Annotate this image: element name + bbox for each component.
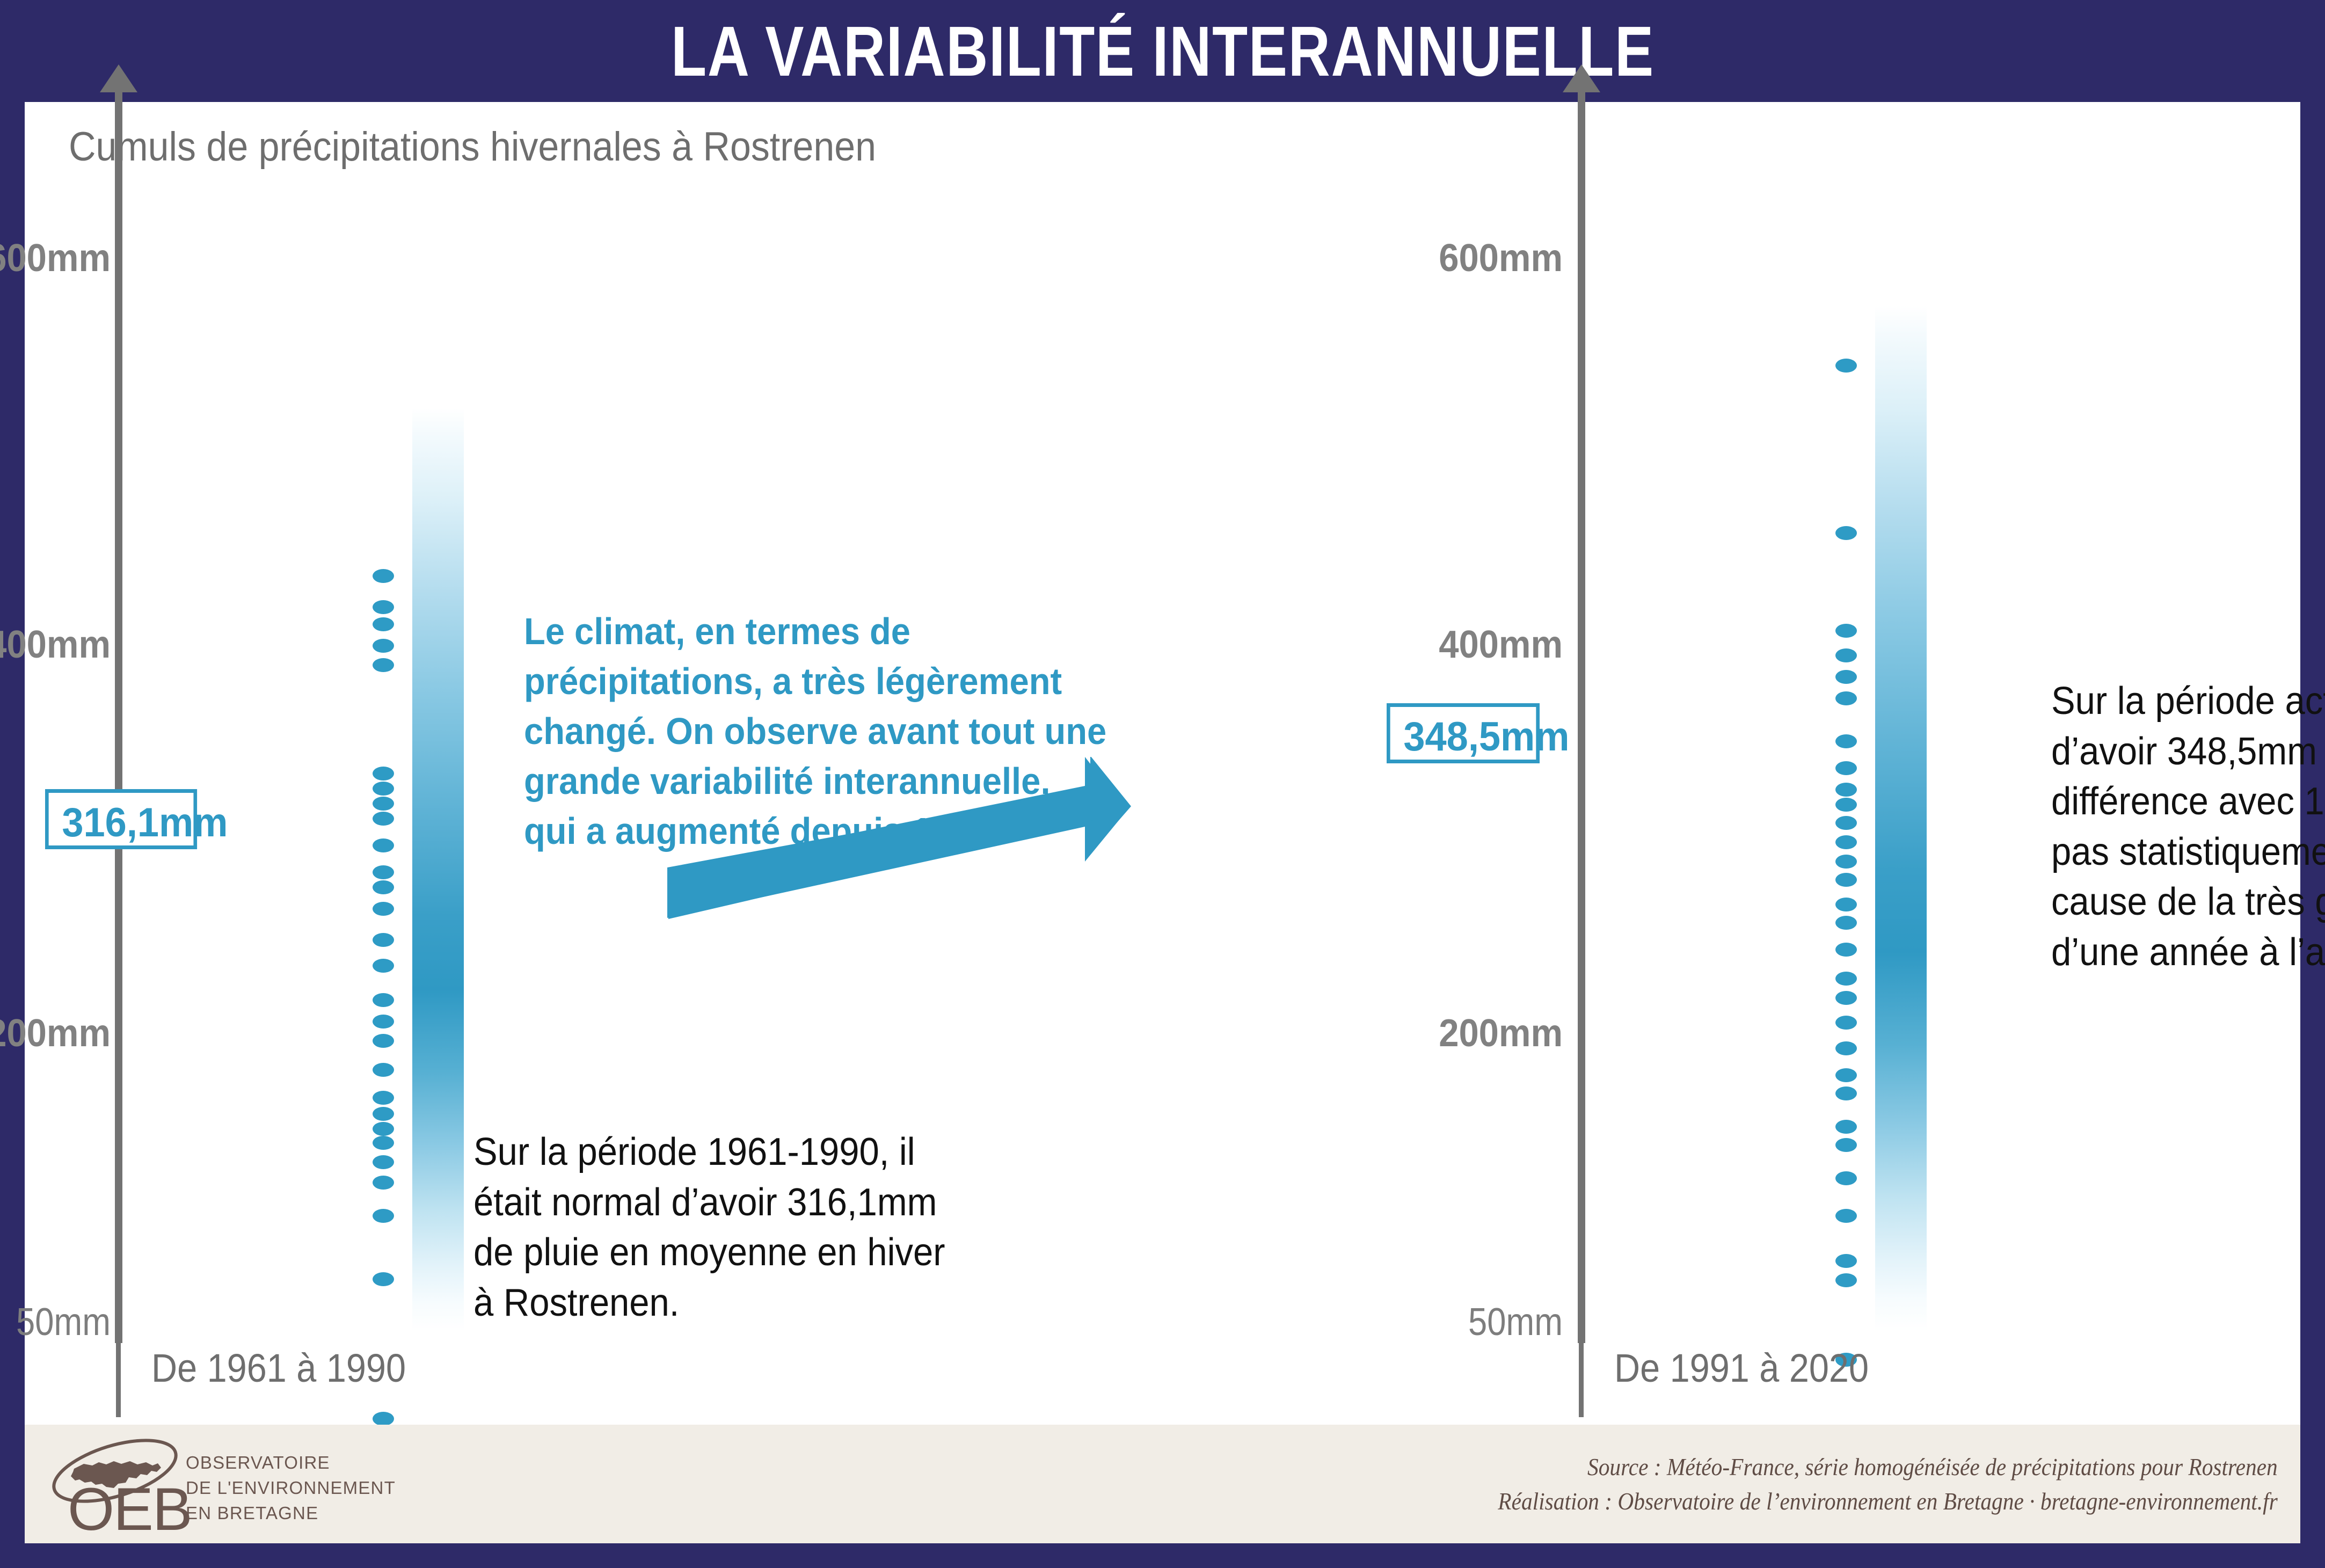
- data-dot: [1835, 1041, 1857, 1055]
- footer-band: OEB OBSERVATOIRE DE L'ENVIRONNEMENT EN B…: [25, 1425, 2300, 1543]
- data-dot: [373, 902, 394, 916]
- y-tick-400-left: 400mm: [0, 623, 111, 667]
- description-right-line3: différence avec 1961-1990 n’est: [2051, 777, 2325, 827]
- data-dot: [1835, 734, 1857, 748]
- data-dot: [1835, 1273, 1857, 1287]
- data-dot: [373, 569, 394, 583]
- data-dot: [1835, 1068, 1857, 1082]
- description-right-line5: cause de la très grande variabilité: [2051, 877, 2325, 928]
- data-dot: [373, 880, 394, 894]
- data-dot: [373, 767, 394, 781]
- data-dot: [373, 1176, 394, 1190]
- data-dot: [1835, 670, 1857, 684]
- data-dot: [1835, 972, 1857, 986]
- data-dot: [373, 1015, 394, 1029]
- description-right-line2: d’avoir 348,5mm de pluie. Mais la: [2051, 727, 2325, 777]
- y-tick-50-left: 50mm: [0, 1300, 111, 1344]
- description-left-line3: de pluie en moyenne en hiver: [473, 1228, 1048, 1278]
- period-label-left: De 1961 à 1990: [151, 1345, 406, 1391]
- data-dot: [1835, 873, 1857, 887]
- chart-canvas: Cumuls de précipitations hivernales à Ro…: [25, 102, 2300, 1425]
- data-dot: [373, 1272, 394, 1286]
- callout-line3: changé. On observe avant tout une: [524, 706, 1153, 756]
- data-dot: [1835, 1209, 1857, 1223]
- y-axis-arrowhead-left: [100, 64, 137, 92]
- normal-value-badge-left: 316,1mm: [45, 789, 197, 849]
- data-dot: [373, 600, 394, 614]
- credits-block: Source : Météo-France, série homogénéisé…: [1498, 1450, 2278, 1519]
- y-tick-400-right: 400mm: [1398, 623, 1563, 667]
- y-tick-600-right: 600mm: [1398, 236, 1563, 280]
- y-tick-200-right: 200mm: [1398, 1011, 1563, 1055]
- y-axis-right: [1578, 92, 1585, 1343]
- description-left-line2: était normal d’avoir 316,1mm: [473, 1178, 1048, 1228]
- description-right: Sur la période actuelle, il est normal d…: [2051, 676, 2325, 978]
- data-dot: [1835, 991, 1857, 1005]
- normal-value-badge-right: 348,5mm: [1387, 703, 1540, 763]
- source-line: Source : Météo-France, série homogénéisé…: [1498, 1450, 2278, 1485]
- data-dot: [373, 639, 394, 653]
- data-dot: [373, 1107, 394, 1121]
- data-dot: [373, 1063, 394, 1077]
- period-label-right: De 1991 à 2020: [1614, 1345, 1869, 1391]
- data-dot: [373, 933, 394, 947]
- data-dot: [1835, 1086, 1857, 1100]
- data-dot: [373, 1091, 394, 1105]
- data-dot: [1835, 691, 1857, 705]
- realisation-line: Réalisation : Observatoire de l’environn…: [1498, 1485, 2278, 1519]
- data-dot: [1835, 835, 1857, 849]
- poster-frame: LA VARIABILITÉ INTERANNUELLE Cumuls de p…: [0, 0, 2325, 1568]
- description-right-line4: pas statistiquement significative à: [2051, 827, 2325, 878]
- data-dot: [373, 1155, 394, 1169]
- data-dot: [373, 993, 394, 1007]
- data-dot: [1835, 898, 1857, 911]
- data-dot: [373, 658, 394, 672]
- data-dot: [1835, 359, 1857, 373]
- y-tick-600-left: 600mm: [0, 236, 111, 280]
- data-dot: [1835, 855, 1857, 869]
- data-dot: [373, 959, 394, 973]
- data-dot: [1835, 783, 1857, 797]
- data-dot: [373, 617, 394, 631]
- data-dot: [373, 1122, 394, 1136]
- y-axis-left: [115, 92, 122, 1343]
- right-arrow-icon: [661, 757, 1133, 929]
- y-tick-200-left: 200mm: [0, 1011, 111, 1055]
- data-dot: [373, 838, 394, 852]
- density-gradient-right: [1875, 306, 1927, 1331]
- description-right-line6: d’une année à l’autre.: [2051, 928, 2325, 978]
- description-left-line4: à Rostrenen.: [473, 1278, 1048, 1329]
- period-divider-right: [1579, 1337, 1584, 1417]
- panel-1991-2020: 600mm 400mm 200mm 50mm 348,5mm: [1198, 102, 2325, 1425]
- data-dot: [1835, 816, 1857, 830]
- data-dot: [373, 865, 394, 879]
- data-dot: [373, 797, 394, 811]
- data-dot: [373, 1136, 394, 1150]
- page-title: LA VARIABILITÉ INTERANNUELLE: [671, 11, 1655, 92]
- data-dot: [1835, 916, 1857, 930]
- data-dot: [1835, 1171, 1857, 1185]
- y-axis-arrowhead-right: [1563, 64, 1600, 92]
- description-right-line1: Sur la période actuelle, il est normal: [2051, 676, 2325, 727]
- callout-line1: Le climat, en termes de: [524, 607, 1153, 657]
- data-dot: [373, 1034, 394, 1048]
- data-dot: [373, 782, 394, 796]
- data-dot: [373, 1412, 394, 1426]
- data-dot: [1835, 1138, 1857, 1152]
- data-dot: [1835, 1016, 1857, 1030]
- description-left: Sur la période 1961-1990, il était norma…: [473, 1127, 1048, 1328]
- data-dot: [1835, 761, 1857, 775]
- data-dot: [1835, 526, 1857, 540]
- description-left-line1: Sur la période 1961-1990, il: [473, 1127, 1048, 1178]
- data-dot: [373, 1209, 394, 1223]
- y-tick-50-right: 50mm: [1407, 1300, 1563, 1344]
- density-gradient-left: [412, 408, 464, 1331]
- data-dot: [1835, 624, 1857, 638]
- data-dot: [1835, 648, 1857, 662]
- callout-line2: précipitations, a très légèrement: [524, 657, 1153, 706]
- data-dot: [1835, 1120, 1857, 1134]
- header-band: LA VARIABILITÉ INTERANNUELLE: [0, 0, 2325, 102]
- logo-mark-text: OEB: [68, 1476, 192, 1536]
- period-divider-left: [116, 1337, 121, 1417]
- data-dot: [1835, 798, 1857, 812]
- data-dot: [1835, 1254, 1857, 1268]
- logo-subtitle: OBSERVATOIRE DE L'ENVIRONNEMENT EN BRETA…: [186, 1450, 396, 1526]
- data-dot: [1835, 943, 1857, 957]
- data-dot: [373, 812, 394, 826]
